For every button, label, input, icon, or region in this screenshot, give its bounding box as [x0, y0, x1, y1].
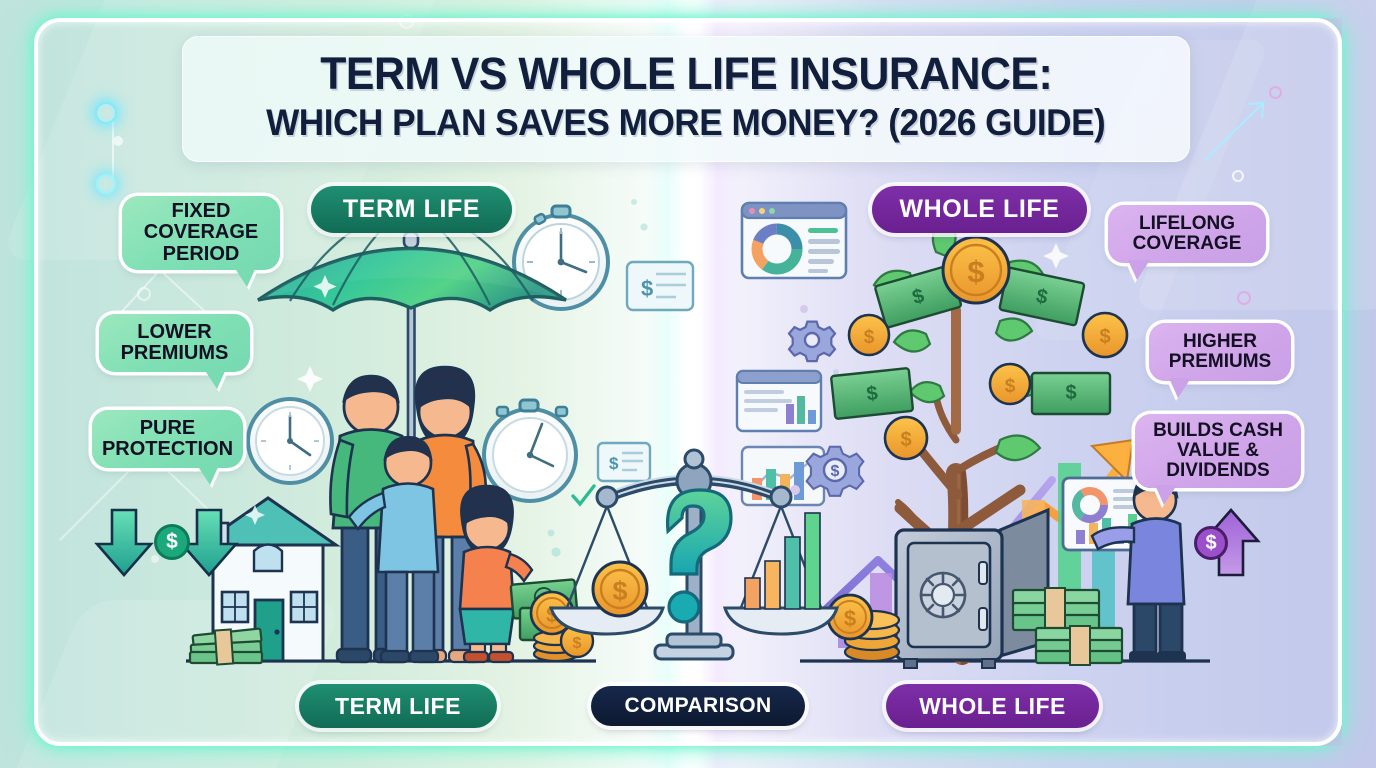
bubble-label: FIXED COVERAGE PERIOD	[134, 201, 268, 265]
svg-text:$: $	[609, 454, 619, 473]
title-line-2: WHICH PLAN SAVES MORE MONEY? (2026 GUIDE…	[266, 101, 1105, 145]
svg-text:$: $	[612, 576, 627, 606]
bubble-tail	[197, 465, 219, 485]
bubble-higher-premiums: HIGHER PREMIUMS	[1149, 323, 1291, 381]
bubble-fixed-coverage-period: FIXED COVERAGE PERIOD	[122, 196, 280, 270]
svg-text:$: $	[910, 285, 927, 309]
bg-dot-1	[113, 136, 123, 146]
dollar-coin-icon-term: $	[154, 524, 190, 560]
badge-whole-life-bottom[interactable]: WHOLE LIFE	[886, 684, 1099, 728]
svg-text:$: $	[844, 606, 856, 631]
svg-text:$: $	[546, 604, 558, 627]
svg-text:$: $	[641, 276, 653, 301]
bg-shape-left-2	[0, 600, 344, 768]
svg-text:$: $	[573, 635, 582, 652]
badge-comparison[interactable]: COMPARISON	[591, 686, 805, 726]
svg-text:$: $	[1099, 326, 1110, 348]
svg-text:$: $	[831, 463, 840, 480]
bg-glow-ring-left	[95, 102, 117, 124]
dollar-coin-icon-whole: $	[1194, 526, 1228, 560]
bg-ring-1	[137, 287, 151, 301]
bubble-tail	[1155, 485, 1177, 505]
bg-ring-2	[399, 14, 414, 29]
bubble-pure-protection: PURE PROTECTION	[92, 410, 243, 468]
bubble-tail	[204, 369, 226, 389]
bubble-label: HIGHER PREMIUMS	[1161, 332, 1279, 372]
bubble-tail	[234, 267, 256, 287]
svg-text:$: $	[1065, 382, 1076, 404]
bg-line-1	[112, 120, 114, 178]
svg-text:$: $	[1005, 376, 1016, 397]
bubble-lower-premiums: LOWER PREMIUMS	[99, 314, 250, 372]
svg-text:$: $	[967, 254, 984, 289]
bg-ring-4	[1237, 291, 1251, 305]
page-title: TERM VS WHOLE LIFE INSURANCE: WHICH PLAN…	[182, 36, 1190, 162]
bubble-builds-cash-value: BUILDS CASH VALUE & DIVIDENDS	[1135, 414, 1301, 488]
bubble-label: LIFELONG COVERAGE	[1120, 214, 1254, 254]
bubble-label: LOWER PREMIUMS	[111, 322, 238, 364]
badge-term-life-top[interactable]: TERM LIFE	[311, 186, 512, 233]
bg-glow-ring-bottom	[96, 174, 116, 194]
bubble-tail	[1128, 260, 1150, 280]
bubble-label: BUILDS CASH VALUE & DIVIDENDS	[1147, 421, 1289, 481]
bg-ring-3	[1269, 86, 1282, 99]
badge-whole-life-top[interactable]: WHOLE LIFE	[872, 186, 1087, 233]
arrow-down-icon	[182, 510, 236, 575]
arrow-down-icon	[97, 510, 151, 575]
title-line-1: TERM VS WHOLE LIFE INSURANCE:	[320, 49, 1052, 99]
bubble-lifelong-coverage: LIFELONG COVERAGE	[1108, 205, 1266, 263]
svg-text:$: $	[900, 429, 911, 451]
bubble-tail	[1169, 378, 1191, 398]
infographic-canvas: $ $ $	[0, 0, 1376, 768]
svg-text:$: $	[864, 327, 875, 348]
bg-dot-2	[151, 555, 159, 563]
badge-term-life-bottom[interactable]: TERM LIFE	[299, 684, 497, 728]
bubble-label: PURE PROTECTION	[102, 418, 233, 460]
svg-text:$: $	[1034, 285, 1049, 309]
svg-text:$: $	[865, 382, 878, 405]
